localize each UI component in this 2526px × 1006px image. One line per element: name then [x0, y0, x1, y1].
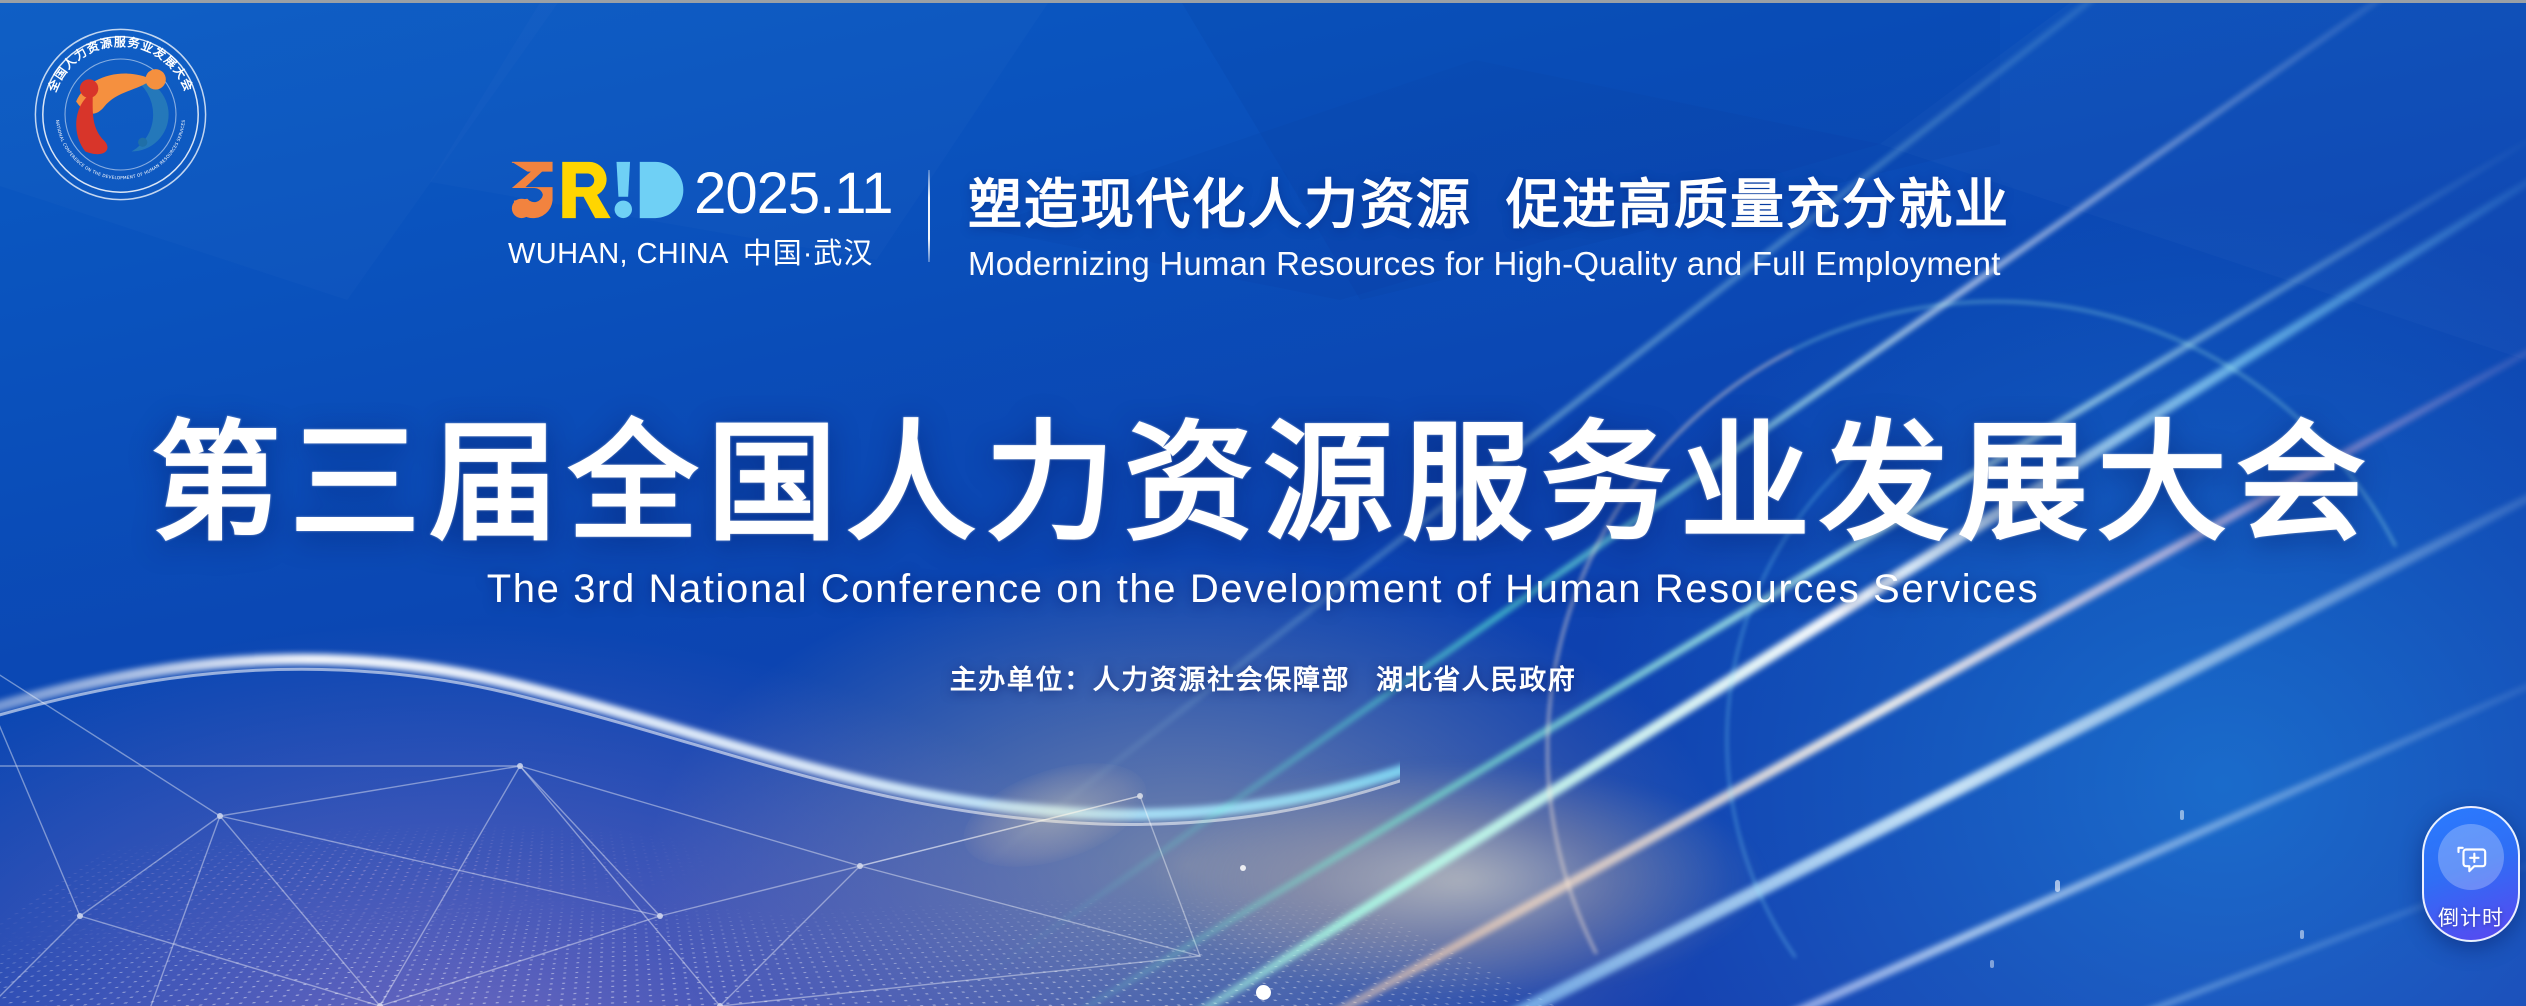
countdown-label: 倒计时 [2438, 902, 2504, 932]
sparkle-dot [1990, 960, 1994, 968]
header-divider [928, 170, 930, 262]
event-tagline: 塑造现代化人力资源促进高质量充分就业 Modernizing Human Res… [968, 160, 2010, 283]
tagline-cn-right: 促进高质量充分就业 [1506, 175, 2010, 235]
window-top-border [0, 0, 2526, 3]
carousel-dot-0[interactable] [1256, 985, 1271, 1000]
banner-header: 全国人力资源服务业发展大会 NATIONAL CONFERENCE ON THE… [0, 0, 2526, 330]
carousel-indicators[interactable] [0, 985, 2526, 1000]
page-title-cn: 第三届全国人力资源服务业发展大会 [0, 415, 2526, 553]
banner-main-title-block: 第三届全国人力资源服务业发展大会 The 3rd National Confer… [0, 415, 2526, 697]
organizer-org-2: 湖北省人民政府 [1376, 665, 1576, 695]
organizer-org-1: 人力资源社会保障部 [1093, 665, 1350, 695]
event-logotype: 2025.11 WUHAN, CHINA中国·武汉 [508, 158, 928, 272]
event-date: 2025.11 [694, 167, 892, 220]
sparkle-dot [2055, 880, 2060, 892]
tagline-cn-left: 塑造现代化人力资源 [968, 175, 1472, 235]
tagline-en: Modernizing Human Resources for High-Qua… [968, 245, 2010, 283]
emblem-text-en: NATIONAL CONFERENCE ON THE DEVELOPMENT O… [54, 119, 187, 181]
event-city-cn: 中国·武汉 [743, 238, 874, 270]
conference-banner-stage: 全国人力资源服务业发展大会 NATIONAL CONFERENCE ON THE… [0, 0, 2526, 1006]
countdown-float-button[interactable]: 倒计时 [2422, 806, 2520, 942]
event-city: WUHAN, CHINA中国·武汉 [508, 230, 928, 272]
conference-emblem-logo: 全国人力资源服务业发展大会 NATIONAL CONFERENCE ON THE… [28, 22, 213, 207]
organizer-prefix: 主办单位： [950, 665, 1093, 695]
chat-bubble-plus-icon [2438, 824, 2504, 890]
sparkle-dot [2180, 810, 2184, 820]
event-city-en: WUHAN, CHINA [508, 238, 729, 270]
svg-text:NATIONAL CONFERENCE ON THE DEV: NATIONAL CONFERENCE ON THE DEVELOPMENT O… [54, 119, 187, 181]
sparkle-dot [2300, 930, 2304, 939]
page-title-en: The 3rd National Conference on the Devel… [0, 567, 2526, 612]
organizer-line: 主办单位：人力资源社会保障部湖北省人民政府 [0, 658, 2526, 697]
sparkle-dot [1240, 865, 1246, 871]
ordinal-3rd-logo [508, 158, 690, 220]
